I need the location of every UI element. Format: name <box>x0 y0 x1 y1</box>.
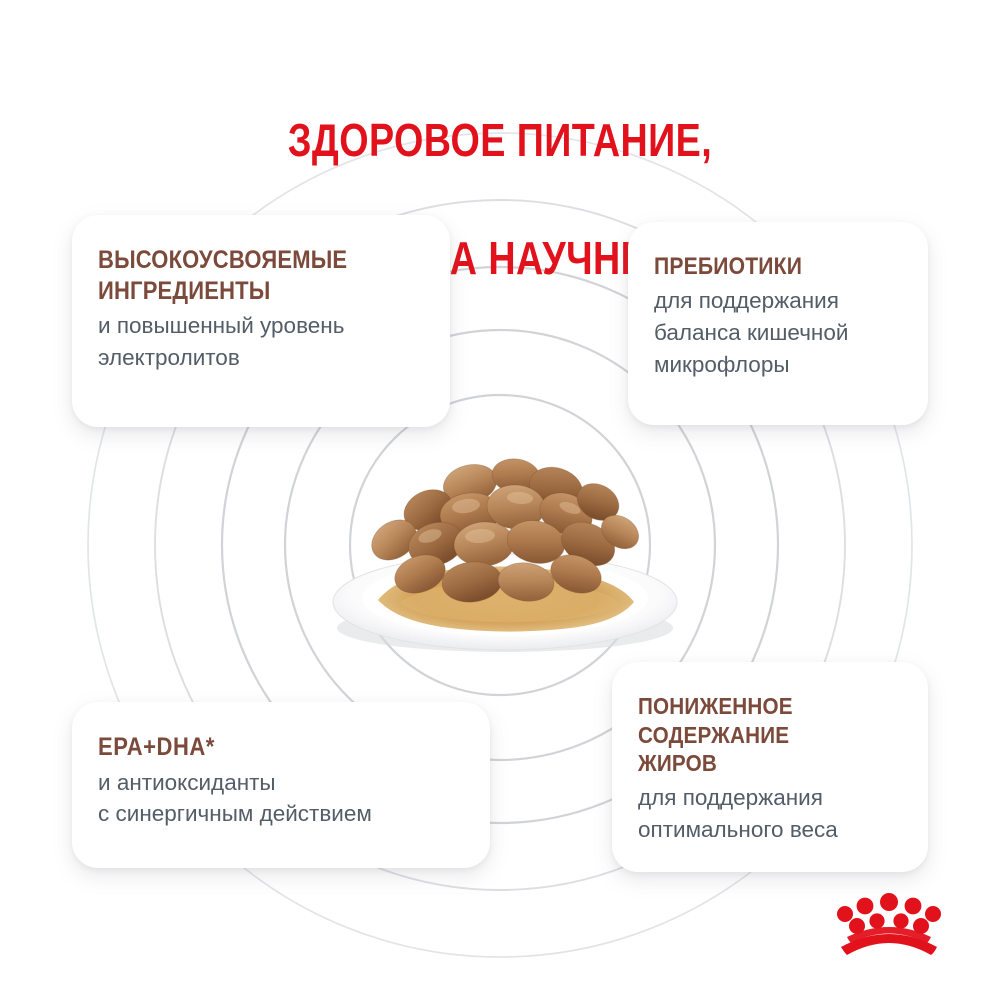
poster-root: ЗДОРОВОЕ ПИТАНИЕ, ОСНОВАННОЕ НА НАУЧНЫХ … <box>0 0 1000 1000</box>
card-low-fat: ПОНИЖЕННОЕ СОДЕРЖАНИЕ ЖИРОВ для поддержа… <box>612 662 928 872</box>
card-epa-dha-body: и антиоксиданты с синергичным действием <box>98 767 460 831</box>
card-high-digestibility: ВЫСОКОУСВОЯЕМЫЕ ИНГРЕДИЕНТЫ и повышенный… <box>72 215 450 427</box>
card-prebiotics: ПРЕБИОТИКИ для поддержания баланса кишеч… <box>628 222 928 425</box>
card-high-digestibility-body: и повышенный уровень электролитов <box>98 310 420 374</box>
card-epa-dha: EPA+DHA* и антиоксиданты с синергичным д… <box>72 702 490 868</box>
card-high-digestibility-heading: ВЫСОКОУСВОЯЕМЫЕ ИНГРЕДИЕНТЫ <box>98 245 381 306</box>
card-low-fat-body: для поддержания оптимального веса <box>638 782 898 846</box>
royal-canin-crown-logo <box>833 893 945 955</box>
card-prebiotics-heading: ПРЕБИОТИКИ <box>654 252 869 281</box>
card-prebiotics-body: для поддержания баланса кишечной микрофл… <box>654 285 898 381</box>
page-title-line-1: ЗДОРОВОЕ ПИТАНИЕ, <box>90 111 910 170</box>
card-epa-dha-heading: EPA+DHA* <box>98 732 417 763</box>
card-low-fat-heading: ПОНИЖЕННОЕ СОДЕРЖАНИЕ ЖИРОВ <box>638 692 867 778</box>
wet-food-plate-image <box>320 432 690 657</box>
